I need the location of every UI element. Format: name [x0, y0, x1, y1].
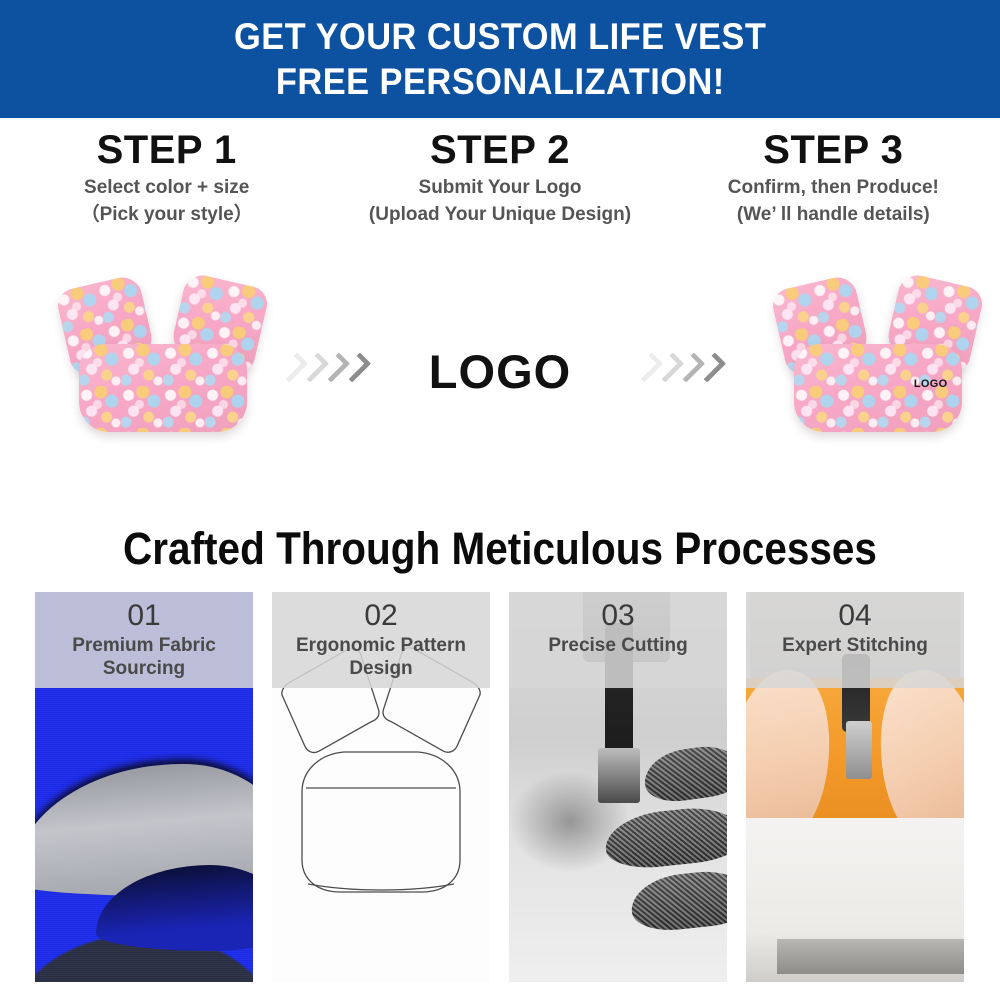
process-card-04-label-line1: Expert Stitching	[778, 634, 932, 657]
presser-foot	[846, 721, 872, 780]
step-2-title: STEP 2	[430, 126, 570, 174]
process-card-03-caption: 03 Precise Cutting	[509, 592, 727, 688]
process-card-01-caption: 01 Premium Fabric Sourcing	[35, 592, 253, 688]
step-3: STEP 3 Confirm, then Produce! (We’ ll ha…	[667, 126, 1000, 256]
presser-foot	[598, 748, 639, 803]
banner-headline-line2: FREE PERSONALIZATION!	[276, 59, 725, 104]
process-card-04-number: 04	[838, 598, 871, 634]
process-card-01-label-line1: Premium Fabric	[68, 634, 220, 657]
process-card-01-label-line2: Sourcing	[99, 657, 189, 680]
chainmail-glove-finger	[641, 741, 727, 805]
process-card-01-number: 01	[127, 598, 160, 634]
process-card-04: 04 Expert Stitching	[746, 592, 964, 982]
process-card-02-label-line2: Design	[345, 657, 416, 680]
step-1-title: STEP 1	[97, 126, 237, 174]
process-card-02: 02 Ergonomic Pattern Design	[272, 592, 490, 982]
banner-headline-line1: GET YOUR CUSTOM LIFE VEST	[234, 14, 766, 59]
machine-rail	[777, 939, 964, 974]
step-2-subtitle-line1: Submit Your Logo	[419, 174, 582, 201]
process-cards-row: 01 Premium Fabric Sourcing 02 Ergonomic …	[35, 592, 973, 982]
chainmail-glove-finger	[629, 867, 727, 934]
printed-logo-label: LOGO	[914, 378, 948, 390]
step-1-subtitle-line1: Select color + size	[84, 174, 249, 201]
step-2-subtitle-line2: (Upload Your Unique Design)	[369, 201, 631, 228]
step-1-subtitle-line2: （Pick your style）	[81, 201, 253, 228]
process-card-03: 03 Precise Cutting	[509, 592, 727, 982]
product-image-branded-vest: LOGO	[770, 268, 985, 468]
steps-row: STEP 1 Select color + size （Pick your st…	[0, 126, 1000, 256]
process-card-02-label-line1: Ergonomic Pattern	[292, 634, 470, 657]
process-card-04-caption: 04 Expert Stitching	[746, 592, 964, 688]
process-card-01: 01 Premium Fabric Sourcing	[35, 592, 253, 982]
step-3-subtitle-line2: (We’ ll handle details)	[737, 201, 930, 228]
process-card-03-number: 03	[601, 598, 634, 634]
step-1: STEP 1 Select color + size （Pick your st…	[0, 126, 333, 256]
flow-arrows-right	[640, 354, 719, 381]
product-flow-row: LOGO LOGO	[0, 258, 1000, 488]
promo-banner: GET YOUR CUSTOM LIFE VEST FREE PERSONALI…	[0, 0, 1000, 118]
vest-torso-panel: LOGO	[794, 344, 962, 432]
step-3-subtitle-line1: Confirm, then Produce!	[728, 174, 939, 201]
process-card-03-label-line1: Precise Cutting	[544, 634, 691, 657]
step-3-title: STEP 3	[763, 126, 903, 174]
process-card-02-number: 02	[364, 598, 397, 634]
section-heading: Crafted Through Meticulous Processes	[50, 523, 950, 575]
process-card-02-caption: 02 Ergonomic Pattern Design	[272, 592, 490, 688]
step-2: STEP 2 Submit Your Logo (Upload Your Uni…	[333, 126, 666, 256]
